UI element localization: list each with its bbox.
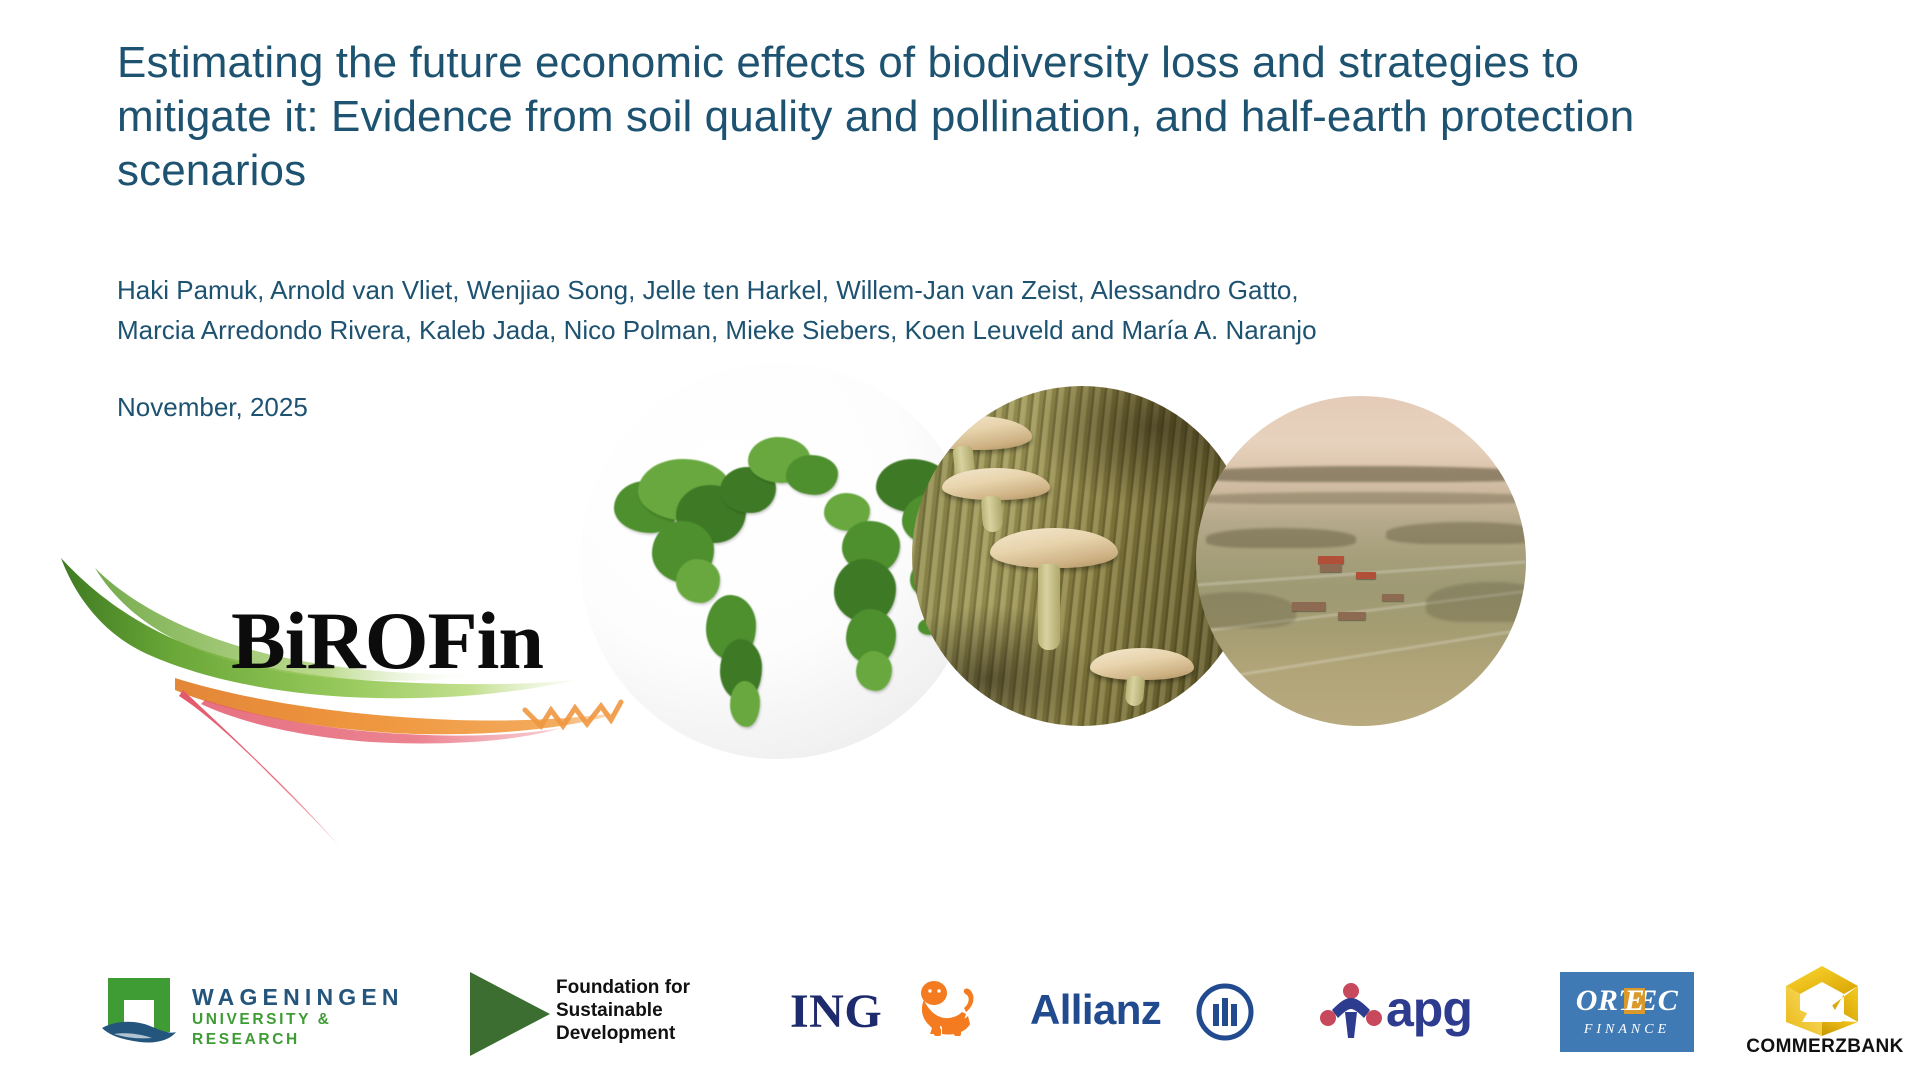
logo-apg: apg bbox=[1320, 962, 1520, 1072]
birofin-project-logo: BiROFin bbox=[55, 550, 665, 850]
author-line-2: Marcia Arredondo Rivera, Kaleb Jada, Nic… bbox=[117, 310, 1617, 350]
fsd-line-2: Sustainable bbox=[556, 999, 690, 1022]
logo-ortec-finance: ORTEC E FINANCE bbox=[1560, 962, 1700, 1072]
author-line-1: Haki Pamuk, Arnold van Vliet, Wenjiao So… bbox=[117, 270, 1617, 310]
image-misty-rural-landscape bbox=[1196, 396, 1526, 726]
ing-wordmark: ING bbox=[790, 984, 882, 1039]
wageningen-name: WAGENINGEN bbox=[192, 984, 430, 1010]
ortec-subtitle: FINANCE bbox=[1560, 1022, 1694, 1038]
allianz-bars-icon bbox=[1195, 982, 1255, 1042]
allianz-wordmark: Allianz bbox=[1030, 986, 1161, 1034]
logo-ing: ING bbox=[790, 962, 980, 1072]
fsd-line-3: Development bbox=[556, 1022, 690, 1045]
apg-wordmark: apg bbox=[1386, 980, 1472, 1038]
author-list: Haki Pamuk, Arnold van Vliet, Wenjiao So… bbox=[117, 270, 1617, 350]
fsd-triangle-icon bbox=[470, 972, 550, 1056]
logo-wageningen-university-research: WAGENINGEN UNIVERSITY & RESEARCH bbox=[100, 962, 430, 1072]
apg-figure-icon bbox=[1320, 982, 1382, 1042]
logo-allianz: Allianz bbox=[1030, 962, 1260, 1072]
ortec-box: ORTEC E FINANCE bbox=[1560, 972, 1694, 1052]
commerzbank-mark-icon bbox=[1780, 964, 1864, 1038]
wageningen-subtitle: UNIVERSITY & RESEARCH bbox=[192, 1010, 430, 1050]
presentation-date: November, 2025 bbox=[117, 392, 308, 423]
birofin-wordmark: BiROFin bbox=[231, 600, 543, 682]
wageningen-wordmark: WAGENINGEN UNIVERSITY & RESEARCH bbox=[192, 984, 430, 1050]
fsd-wordmark: Foundation for Sustainable Development bbox=[556, 976, 690, 1045]
page-title: Estimating the future economic effects o… bbox=[117, 36, 1727, 198]
wageningen-mark-icon bbox=[100, 976, 178, 1048]
commerzbank-wordmark: COMMERZBANK bbox=[1740, 1036, 1910, 1058]
fsd-line-1: Foundation for bbox=[556, 976, 690, 999]
logo-commerzbank: COMMERZBANK bbox=[1740, 962, 1910, 1072]
ortec-accent-letter: E bbox=[1624, 984, 1645, 1018]
partner-logo-bar: WAGENINGEN UNIVERSITY & RESEARCH Foundat… bbox=[0, 962, 1916, 1080]
ing-lion-icon bbox=[910, 978, 982, 1042]
logo-foundation-sustainable-development: Foundation for Sustainable Development bbox=[470, 962, 740, 1072]
